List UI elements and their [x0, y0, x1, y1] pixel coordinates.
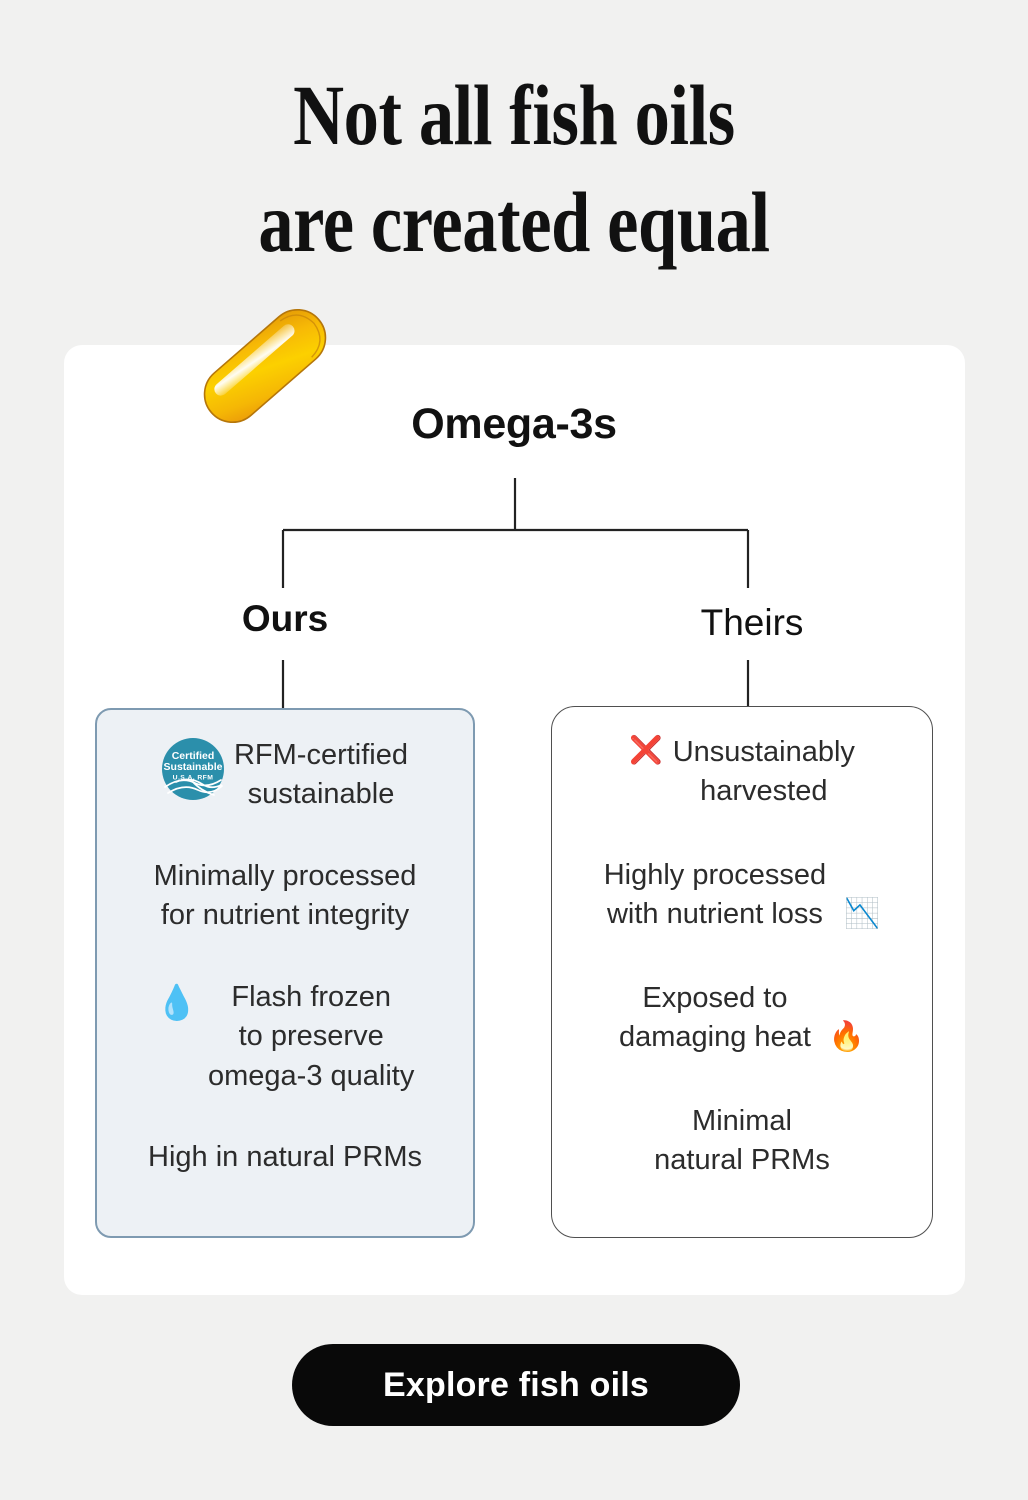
droplet-emoji: 💧 — [156, 986, 198, 1020]
ours-feature-text-rfm: RFM-certified sustainable — [234, 736, 408, 815]
infographic-page: Not all fish oils are created equal — [0, 0, 1028, 1500]
theirs-feature-damaging-heat: Exposed to damaging heat 🔥 — [570, 979, 914, 1058]
ours-feature-text-flash-frozen: Flash frozen to preserve omega-3 quality — [208, 978, 414, 1096]
ours-feature-minimally-processed: Minimally processed for nutrient integri… — [115, 857, 455, 936]
omega3s-heading: Omega-3s — [0, 400, 1028, 449]
theirs-feature-text-highly-processed: Highly processed with nutrient loss — [604, 856, 826, 935]
branch-label-theirs: Theirs — [632, 602, 872, 644]
chart-decreasing-emoji: 📉 — [844, 895, 880, 934]
fire-emoji: 🔥 — [829, 1018, 865, 1057]
branch-label-ours: Ours — [165, 598, 405, 640]
ours-feature-rfm-certified: Certified Sustainable U.S.A. RFM RFM-cer… — [115, 736, 455, 815]
tree-connector-lines — [0, 460, 1028, 720]
ours-feature-flash-frozen: 💧 Flash frozen to preserve omega-3 quali… — [115, 978, 455, 1096]
theirs-feature-unsustainable: ❌ Unsustainably harvested — [570, 733, 914, 812]
ours-feature-high-prms: High in natural PRMs — [115, 1138, 455, 1177]
cross-mark-emoji: ❌ — [629, 733, 663, 768]
badge-line-sustainable: Sustainable — [164, 761, 223, 773]
theirs-comparison-card: ❌ Unsustainably harvested Highly process… — [551, 706, 933, 1238]
theirs-feature-minimal-prms: Minimal natural PRMs — [570, 1102, 914, 1181]
fish-oil-capsule-icon — [186, 298, 344, 434]
theirs-feature-text-unsustainable: Unsustainably harvested — [673, 733, 855, 812]
page-title: Not all fish oils are created equal — [93, 62, 936, 275]
explore-fish-oils-button[interactable]: Explore fish oils — [292, 1344, 740, 1426]
theirs-feature-text-damaging-heat: Exposed to damaging heat — [619, 979, 811, 1058]
theirs-feature-highly-processed: Highly processed with nutrient loss 📉 — [570, 856, 914, 935]
ours-comparison-card: Certified Sustainable U.S.A. RFM RFM-cer… — [95, 708, 475, 1238]
rfm-certified-sustainable-badge-icon: Certified Sustainable U.S.A. RFM — [162, 738, 224, 800]
